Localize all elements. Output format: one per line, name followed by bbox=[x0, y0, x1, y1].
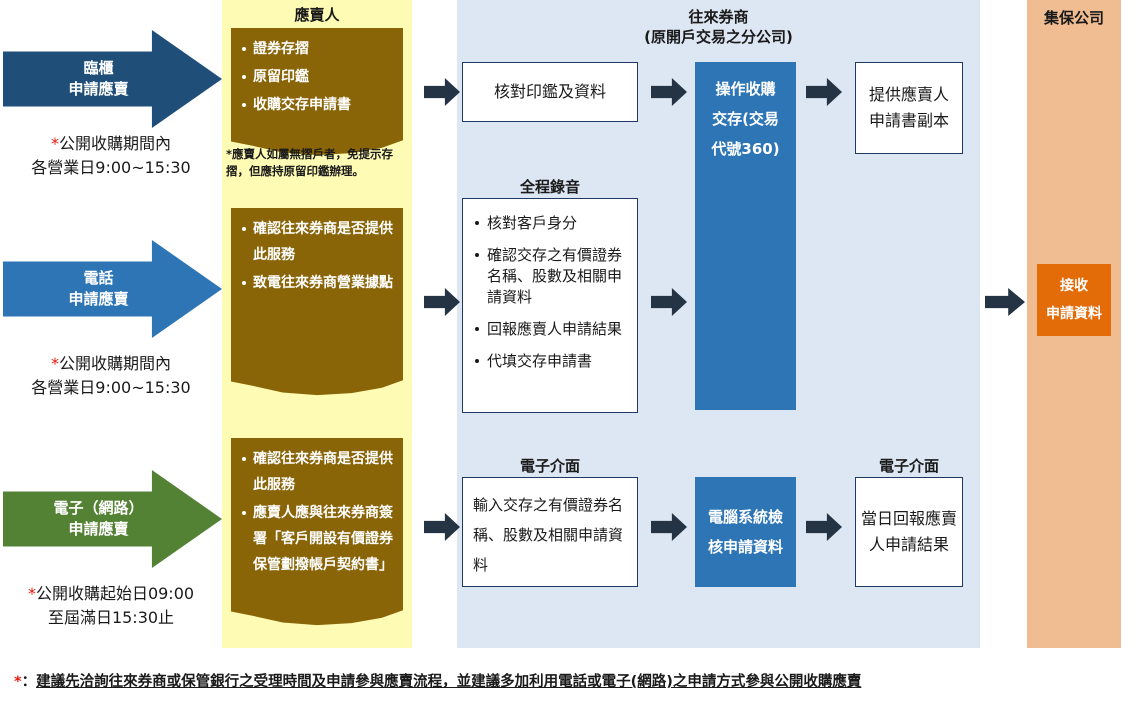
label-electronic-interface-input: 電子介面 bbox=[462, 455, 638, 476]
label-full-recording: 全程錄音 bbox=[462, 176, 638, 197]
footnote-separator: ： bbox=[22, 674, 37, 690]
step-operate-deposit-360: 操作收購 交存(交易 代號360) bbox=[695, 62, 796, 410]
requirement-item: 致電往來券商營業據點 bbox=[241, 270, 397, 296]
broker-column-title-line1: 往來券商 bbox=[457, 7, 980, 27]
requirement-item: 確認往來券商是否提供此服務 bbox=[241, 446, 397, 498]
step-recording-checklist: 核對客戶身分 確認交存之有價證券名稱、股數及相關申請資料 回報應賣人申請結果 代… bbox=[462, 198, 638, 413]
channel-arrow-counter: 臨櫃 申請應賣 bbox=[3, 30, 222, 128]
flowchart-diagram: 應賣人 往來券商 (原開戶交易之分公司) 集保公司 臨櫃 申請應賣 *公開收購期… bbox=[0, 0, 1147, 703]
channel-phone-label-line1: 電話 bbox=[83, 269, 113, 287]
step-verify-seal-and-data: 核對印鑑及資料 bbox=[462, 62, 638, 122]
recording-item: 代填交存申請書 bbox=[473, 351, 629, 372]
requirement-item: 原留印鑑 bbox=[241, 64, 397, 90]
phone-caption-line1: 公開收購期間內 bbox=[59, 354, 171, 373]
receive-line1: 接收 bbox=[1046, 272, 1102, 300]
offeree-column-title: 應賣人 bbox=[222, 5, 412, 25]
channel-phone-label-line2: 申請應賣 bbox=[68, 290, 128, 308]
recording-item: 核對客戶身分 bbox=[473, 213, 629, 234]
system-verification-line1: 電腦系統檢 bbox=[708, 502, 783, 532]
channel-electronic-label-line1: 電子（網路） bbox=[53, 499, 143, 517]
requirement-item: 確認往來券商是否提供此服務 bbox=[241, 216, 397, 268]
broker-column-title-line2: (原開戶交易之分公司) bbox=[457, 27, 980, 47]
tdcc-column-title: 集保公司 bbox=[1027, 8, 1121, 28]
channel-electronic-label-line2: 申請應賣 bbox=[68, 520, 128, 538]
electronic-caption-line1: 公開收購起始日09:00 bbox=[36, 584, 194, 603]
step-system-verification: 電腦系統檢 核申請資料 bbox=[695, 477, 796, 587]
broker-column-title: 往來券商 (原開戶交易之分公司) bbox=[457, 7, 980, 47]
label-electronic-interface-result: 電子介面 bbox=[855, 455, 963, 476]
requirement-item: 應賣人應與往來券商簽署「客戶開設有價證券保管劃撥帳戶契約書」 bbox=[241, 500, 397, 578]
result-report-line2: 人申請結果 bbox=[861, 532, 957, 558]
offeree-counter-note: *應賣人如屬無摺戶者，免提示存摺，但應持原留印鑑辦理。 bbox=[226, 146, 412, 180]
operate-line2: 交存(交易 bbox=[695, 104, 796, 134]
footnote-text: 建議先洽詢往來券商或保管銀行之受理時間及申請參與應賣流程，並建議多加利用電話或電… bbox=[36, 674, 861, 690]
right-arrow-icon bbox=[424, 288, 460, 316]
system-verification-line2: 核申請資料 bbox=[708, 532, 783, 562]
counter-caption-line2: 各營業日9:00~15:30 bbox=[31, 158, 190, 177]
operate-line1: 操作收購 bbox=[695, 74, 796, 104]
right-arrow-icon bbox=[424, 78, 460, 106]
provide-copy-line1: 提供應賣人 bbox=[869, 82, 949, 108]
step-electronic-input: 輸入交存之有價證券名稱、股數及相關申請資料 bbox=[462, 477, 638, 587]
recording-item: 回報應賣人申請結果 bbox=[473, 319, 629, 340]
electronic-input-text: 輸入交存之有價證券名稱、股數及相關申請資料 bbox=[473, 490, 629, 580]
offeree-requirements-electronic: 確認往來券商是否提供此服務 應賣人應與往來券商簽署「客戶開設有價證券保管劃撥帳戶… bbox=[231, 438, 403, 600]
recording-item: 確認交存之有價證券名稱、股數及相關申請資料 bbox=[473, 245, 629, 308]
electronic-caption-star: * bbox=[28, 584, 36, 603]
step-same-day-result-report: 當日回報應賣 人申請結果 bbox=[855, 477, 963, 587]
phone-caption-star: * bbox=[51, 354, 59, 373]
channel-counter-label-line2: 申請應賣 bbox=[68, 80, 128, 98]
operate-line3: 代號360) bbox=[695, 134, 796, 164]
channel-arrow-phone: 電話 申請應賣 bbox=[3, 240, 222, 338]
counter-caption-line1: 公開收購期間內 bbox=[59, 134, 171, 153]
result-report-line1: 當日回報應賣 bbox=[861, 506, 957, 532]
channel-arrow-electronic: 電子（網路） 申請應賣 bbox=[3, 470, 222, 568]
right-arrow-icon bbox=[985, 288, 1025, 316]
right-arrow-icon bbox=[424, 513, 460, 541]
step-receive-application-data: 接收 申請資料 bbox=[1037, 264, 1111, 336]
channel-counter-caption: *公開收購期間內 各營業日9:00~15:30 bbox=[0, 132, 222, 180]
channel-counter-label-line1: 臨櫃 bbox=[83, 59, 113, 77]
offeree-requirements-phone: 確認往來券商是否提供此服務 致電往來券商營業據點 bbox=[231, 208, 403, 370]
receive-line2: 申請資料 bbox=[1046, 300, 1102, 328]
phone-caption-line2: 各營業日9:00~15:30 bbox=[31, 378, 190, 397]
requirement-item: 證券存摺 bbox=[241, 36, 397, 62]
offeree-requirements-counter: 證券存摺 原留印鑑 收購交存申請書 bbox=[231, 28, 403, 130]
footnote-star: * bbox=[14, 674, 22, 690]
footnote: *：建議先洽詢往來券商或保管銀行之受理時間及申請參與應賣流程，並建議多加利用電話… bbox=[14, 671, 1134, 693]
counter-caption-star: * bbox=[51, 134, 59, 153]
provide-copy-line2: 申請書副本 bbox=[869, 108, 949, 134]
channel-electronic-caption: *公開收購起始日09:00 至屆滿日15:30止 bbox=[0, 582, 222, 630]
requirement-item: 收購交存申請書 bbox=[241, 92, 397, 118]
electronic-caption-line2: 至屆滿日15:30止 bbox=[48, 608, 174, 627]
step-provide-application-copy: 提供應賣人 申請書副本 bbox=[855, 62, 963, 154]
channel-phone-caption: *公開收購期間內 各營業日9:00~15:30 bbox=[0, 352, 222, 400]
